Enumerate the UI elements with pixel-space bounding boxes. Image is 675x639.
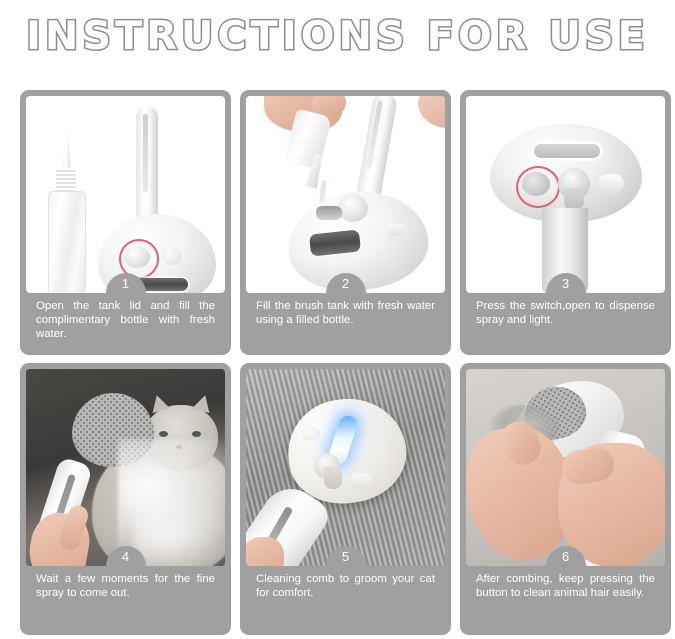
tank-opening [316,206,342,220]
highlight-ring-icon [516,166,560,208]
step-1-caption: Open the tank lid and fill the complimen… [26,293,225,349]
tank-lid-open [338,194,368,222]
device-secondary-knob [162,248,182,265]
step-6-caption: After combing, keep pressing the button … [466,566,665,629]
spray-mist-secondary [134,489,225,566]
step-3-photo: 3 [466,96,665,293]
step-6-photo: 6 [466,369,665,566]
step-1-photo: 1 [26,96,225,293]
finger-icon [246,537,284,566]
illustration-spraying-cat [26,369,225,566]
cat-eye-right [192,431,201,437]
light-window [534,144,600,158]
instruction-steps-grid: 1 Open the tank lid and fill the complim… [20,90,672,635]
center-knob-stem [324,467,342,489]
side-pill-button [350,473,372,489]
step-panel-2: 2 Fill the brush tank with fresh water u… [240,90,451,355]
step-panel-4: 4 Wait a few moments for the fine spray … [20,363,231,635]
center-knob-stem [564,188,584,210]
step-panel-6: 6 After combing, keep pressing the butto… [460,363,671,635]
device-handle-groove [143,114,148,192]
page-title: INSTRUCTIONS FOR USE [0,0,675,66]
device-side-button [386,224,408,236]
step-panel-5: 5 Cleaning comb to groom your cat for co… [240,363,451,635]
step-2-photo: 2 [246,96,445,293]
bottle-tip-icon [62,132,71,172]
side-pill-button [598,174,624,194]
step-panel-3: 3 Press the switch,open to dispense spra… [460,90,671,355]
step-3-caption: Press the switch,open to dispense spray … [466,293,665,349]
illustration-filling-tank [246,96,445,293]
illustration-grooming-led [246,369,445,566]
step-5-photo: 5 [246,369,445,566]
illustration-switch-closeup [466,96,665,293]
step-2-caption: Fill the brush tank with fresh water usi… [246,293,445,349]
illustration-cleaning-hair [466,369,665,566]
spray-switch-button [302,427,320,441]
bottle-body-icon [48,191,86,293]
step-4-photo: 4 [26,369,225,566]
cat-eye-left [159,431,168,437]
arm-icon [418,96,445,128]
illustration-bottle-and-base [26,96,225,293]
step-panel-1: 1 Open the tank lid and fill the complim… [20,90,231,355]
step-4-caption: Wait a few moments for the fine spray to… [26,566,225,629]
step-5-caption: Cleaning comb to groom your cat for comf… [246,566,445,629]
